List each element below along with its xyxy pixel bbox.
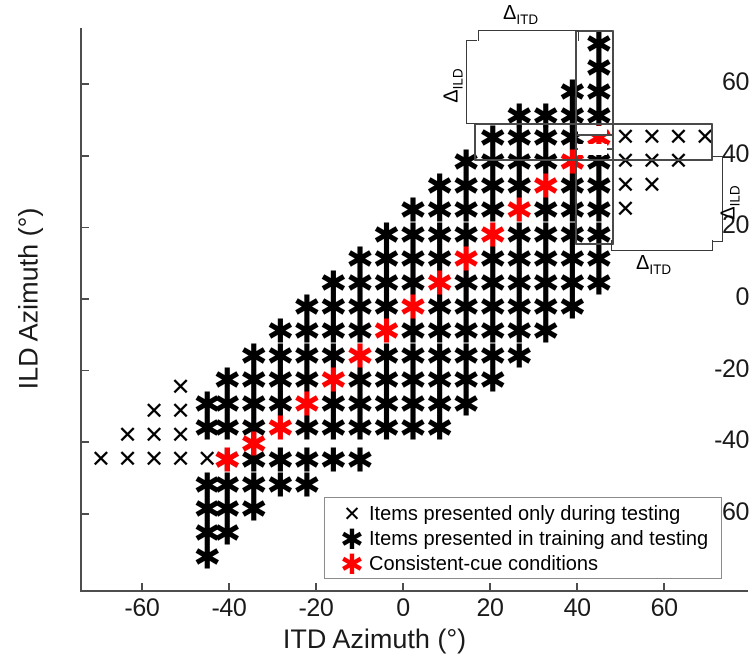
delta-ild-left-bracket <box>466 40 477 124</box>
marker-asterisk: ✱ <box>399 411 427 444</box>
marker-asterisk: ✱ <box>532 315 560 348</box>
delta-symbol: Δ <box>441 89 463 102</box>
box-join-mask-bottom <box>578 144 607 155</box>
marker-asterisk-red: ✱ <box>346 339 374 372</box>
y-tick--40 <box>81 441 89 443</box>
x-ticklabel--60: -60 <box>107 594 177 623</box>
x-axis-line <box>80 590 748 592</box>
legend-label-0: Items presented only during testing <box>369 503 680 526</box>
marker-asterisk: ✱ <box>585 266 613 299</box>
marker-cross: ✕ <box>117 448 137 472</box>
delta-symbol: Δ <box>503 2 516 24</box>
marker-asterisk-red: ✱ <box>293 387 321 420</box>
marker-asterisk: ✱ <box>479 363 507 396</box>
marker-asterisk-red: ✱ <box>399 291 427 324</box>
marker-asterisk-red: ✱ <box>479 218 507 251</box>
marker-cross: ✕ <box>171 400 191 424</box>
delta-itd-bottom-label: ΔITD <box>636 252 671 277</box>
x-ticklabel-60: 60 <box>629 594 699 623</box>
marker-asterisk: ✱ <box>452 387 480 420</box>
x-axis-label: ITD Azimuth (°) <box>0 624 749 655</box>
marker-asterisk-red: ✱ <box>266 411 294 444</box>
delta-subscript: ITD <box>649 262 671 277</box>
marker-asterisk: ✱ <box>346 444 374 477</box>
box-join-mask-top <box>578 126 607 134</box>
marker-asterisk: ✱ <box>505 339 533 372</box>
marker-asterisk: ✱ <box>266 468 294 501</box>
y-ticklabel-60: 60 <box>681 68 749 97</box>
x-tick-60 <box>663 583 665 591</box>
marker-asterisk: ✱ <box>373 411 401 444</box>
x-tick--40 <box>228 583 230 591</box>
marker-cross: ✕ <box>171 448 191 472</box>
figure-root: -60-40-200204060 -60-40-200204060 ITD Az… <box>0 0 749 671</box>
y-axis-line <box>80 28 82 591</box>
marker-asterisk-red: ✱ <box>213 444 241 477</box>
legend: ✕Items presented only during testing✱Ite… <box>324 497 722 579</box>
marker-cross: ✕ <box>171 376 191 400</box>
marker-asterisk: ✱ <box>320 411 348 444</box>
delta-itd-top-label: ΔITD <box>503 2 538 27</box>
y-tick-40 <box>81 155 89 157</box>
marker-asterisk-red: ✱ <box>320 363 348 396</box>
delta-symbol: Δ <box>636 252 649 274</box>
marker-cross: ✕ <box>144 400 164 424</box>
delta-ild-right-label: ΔILD <box>718 163 743 243</box>
legend-item-1: ✱Items presented in training and testing <box>325 527 721 552</box>
delta-subscript: ITD <box>516 12 538 27</box>
marker-asterisk-red: ✱ <box>240 428 268 461</box>
legend-label-2: Consistent-cue conditions <box>369 553 598 576</box>
x-ticklabel-20: 20 <box>455 594 525 623</box>
marker-cross: ✕ <box>615 198 635 222</box>
legend-item-0: ✕Items presented only during testing <box>325 502 721 527</box>
marker-cross: ✕ <box>171 424 191 448</box>
y-ticklabel--20: -20 <box>681 355 749 384</box>
marker-asterisk: ✱ <box>213 411 241 444</box>
marker-cross: ✕ <box>144 448 164 472</box>
marker-asterisk-red: ✱ <box>452 242 480 275</box>
marker-asterisk: ✱ <box>320 444 348 477</box>
delta-symbol: Δ <box>718 206 740 219</box>
marker-asterisk-red: ✱ <box>505 194 533 227</box>
asterisk-marker-red-icon: ✱ <box>335 551 369 579</box>
legend-label-1: Items presented in training and testing <box>369 528 708 551</box>
legend-item-2: ✱Consistent-cue conditions <box>325 552 721 577</box>
delta-subscript: ILD <box>728 185 743 206</box>
marker-asterisk-red: ✱ <box>532 170 560 203</box>
y-tick-0 <box>81 298 89 300</box>
delta-itd-top-bracket <box>478 30 579 41</box>
x-tick--60 <box>141 583 143 591</box>
x-tick-40 <box>576 583 578 591</box>
y-tick-60 <box>81 83 89 85</box>
x-tick--20 <box>315 583 317 591</box>
marker-cross: ✕ <box>144 424 164 448</box>
marker-asterisk-red: ✱ <box>426 266 454 299</box>
y-tick--60 <box>81 513 89 515</box>
x-tick-20 <box>489 583 491 591</box>
y-ticklabel--40: -40 <box>681 426 749 455</box>
x-ticklabel-0: 0 <box>368 594 438 623</box>
y-tick-20 <box>81 227 89 229</box>
delta-ild-left-label: ΔILD <box>441 46 466 126</box>
marker-cross: ✕ <box>615 174 635 198</box>
delta-subscript: ILD <box>451 68 466 89</box>
cross-marker-icon: ✕ <box>335 504 369 525</box>
x-tick-0 <box>402 583 404 591</box>
y-tick--20 <box>81 370 89 372</box>
x-ticklabel--20: -20 <box>281 594 351 623</box>
y-axis-label: ILD Azimuth (°) <box>14 149 45 449</box>
y-ticklabel-0: 0 <box>681 283 749 312</box>
x-ticklabel--40: -40 <box>194 594 264 623</box>
marker-asterisk-red: ✱ <box>373 315 401 348</box>
marker-asterisk: ✱ <box>293 468 321 501</box>
delta-itd-bottom-bracket <box>611 240 713 251</box>
marker-asterisk: ✱ <box>426 411 454 444</box>
x-ticklabel-40: 40 <box>542 594 612 623</box>
marker-cross: ✕ <box>642 174 662 198</box>
marker-cross: ✕ <box>91 448 111 472</box>
marker-asterisk: ✱ <box>346 411 374 444</box>
marker-asterisk: ✱ <box>240 492 268 525</box>
marker-cross: ✕ <box>117 424 137 448</box>
marker-asterisk: ✱ <box>558 291 586 324</box>
marker-asterisk: ✱ <box>193 540 221 573</box>
